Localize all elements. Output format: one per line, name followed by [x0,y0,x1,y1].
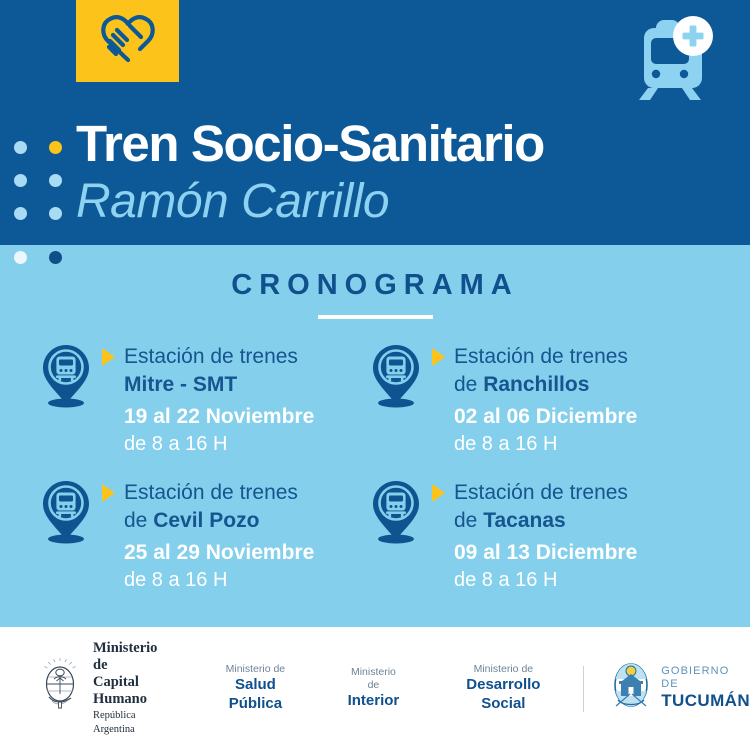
dates-line: 25 al 29 Noviembre [124,539,314,567]
place-name: Tacanas [483,509,566,532]
ministry-name: Interior [348,692,400,711]
place-name: Cevil Pozo [153,509,259,532]
schedule-grid: Estación de trenes Mitre - SMT 19 al 22 … [0,340,750,593]
title-block: Tren Socio-Sanitario Ramón Carrillo [76,118,544,229]
dot [49,207,62,220]
station-line: Estación de trenes [102,480,314,507]
schedule-row: Estación de trenes Mitre - SMT 19 al 22 … [0,340,750,457]
hours-line: de 8 a 16 H [454,567,637,593]
station-line: Estación de trenes [432,344,637,371]
logo-salud-publica: Ministerio de Salud Pública [215,663,295,714]
ministry-prefix: Ministerio de [453,663,553,676]
dot [49,174,62,187]
place-line: Mitre - SMT [124,371,314,398]
footer-logos: Ministerio de Capital Humano República A… [0,627,750,750]
handshake-heart-icon [97,10,159,73]
logo-gobierno-tucuman: GOBIERNO DE TUCUMÁN [608,660,750,717]
poster-root: Tren Socio-Sanitario Ramón Carrillo CRON… [0,0,750,750]
schedule-entry-cevil-pozo: Estación de trenes de Cevil Pozo 25 al 2… [40,476,380,593]
triangle-right-icon [432,484,445,502]
map-pin-train-icon [370,342,422,415]
decorative-dots-lower [11,251,67,267]
triangle-right-icon [102,348,115,366]
ministry-line1: Ministerio de [93,640,167,674]
ministry-name: Desarrollo Social [453,676,553,714]
station-line: Estación de trenes [102,344,314,371]
dot [14,251,27,264]
entry-text: Estación de trenes de Ranchillos 02 al 0… [432,340,637,457]
dot [49,251,62,264]
tucuman-text: GOBIERNO DE TUCUMÁN [661,665,750,712]
station-label: Estación de trenes [454,344,628,371]
place-line: de Tacanas [454,507,637,534]
schedule-row: Estación de trenes de Cevil Pozo 25 al 2… [0,476,750,593]
entry-text: Estación de trenes de Cevil Pozo 25 al 2… [102,476,314,593]
ministry-prefix: Ministerio de [215,663,295,676]
map-pin-train-icon [370,478,422,551]
ministry-name: Salud Pública [215,676,295,714]
station-line: Estación de trenes [432,480,637,507]
section-title: CRONOGRAMA [231,269,519,302]
hours-line: de 8 a 16 H [454,431,637,457]
place-name: Ranchillos [483,373,589,396]
page-subtitle: Ramón Carrillo [76,175,544,229]
ministry-prefix: Ministerio de [348,666,400,692]
place-prefix: de [124,509,153,532]
place-prefix: de [454,509,483,532]
footer-divider [583,666,584,712]
dot-accent [49,141,62,154]
tucuman-line1: GOBIERNO DE [661,665,750,691]
ministry-line3: República Argentina [93,709,167,736]
dot [14,174,27,187]
logo-interior: Ministerio de Interior [348,666,400,711]
triangle-right-icon [102,484,115,502]
capital-humano-text: Ministerio de Capital Humano República A… [93,640,167,737]
logo-capital-humano: Ministerio de Capital Humano República A… [36,640,167,737]
place-line: de Cevil Pozo [124,507,314,534]
schedule-entry-tacanas: Estación de trenes de Tacanas 09 al 13 D… [370,476,710,593]
dot [14,141,27,154]
ministry-line2: Capital Humano [93,674,167,708]
schedule-entry-mitre-smt: Estación de trenes Mitre - SMT 19 al 22 … [40,340,380,457]
place-line: de Ranchillos [454,371,637,398]
dates-line: 02 al 06 Diciembre [454,403,637,431]
schedule-section: CRONOGRAMA [0,245,750,627]
hours-line: de 8 a 16 H [124,567,314,593]
station-label: Estación de trenes [454,480,628,507]
map-pin-train-icon [40,478,92,551]
dates-line: 09 al 13 Diciembre [454,539,637,567]
schedule-entry-ranchillos: Estación de trenes de Ranchillos 02 al 0… [370,340,710,457]
hours-line: de 8 a 16 H [124,431,314,457]
place-name: Mitre - SMT [124,373,237,396]
header-banner: Tren Socio-Sanitario Ramón Carrillo [0,0,750,245]
capital-humano-logo-box [76,0,179,82]
tucuman-line2: TUCUMÁN [661,691,750,711]
tucuman-shield-icon [608,660,654,717]
logo-desarrollo-social: Ministerio de Desarrollo Social [453,663,553,714]
page-title: Tren Socio-Sanitario [76,118,544,169]
train-plus-icon [618,16,714,104]
section-heading-wrap: CRONOGRAMA [0,269,750,319]
title-underline [318,315,433,319]
entry-text: Estación de trenes Mitre - SMT 19 al 22 … [102,340,314,457]
decorative-dots-grid [11,141,67,240]
map-pin-train-icon [40,342,92,415]
argentina-coat-of-arms-icon [36,657,84,720]
station-label: Estación de trenes [124,344,298,371]
entry-text: Estación de trenes de Tacanas 09 al 13 D… [432,476,637,593]
station-label: Estación de trenes [124,480,298,507]
place-prefix: de [454,373,483,396]
dates-line: 19 al 22 Noviembre [124,403,314,431]
dot [14,207,27,220]
triangle-right-icon [432,348,445,366]
